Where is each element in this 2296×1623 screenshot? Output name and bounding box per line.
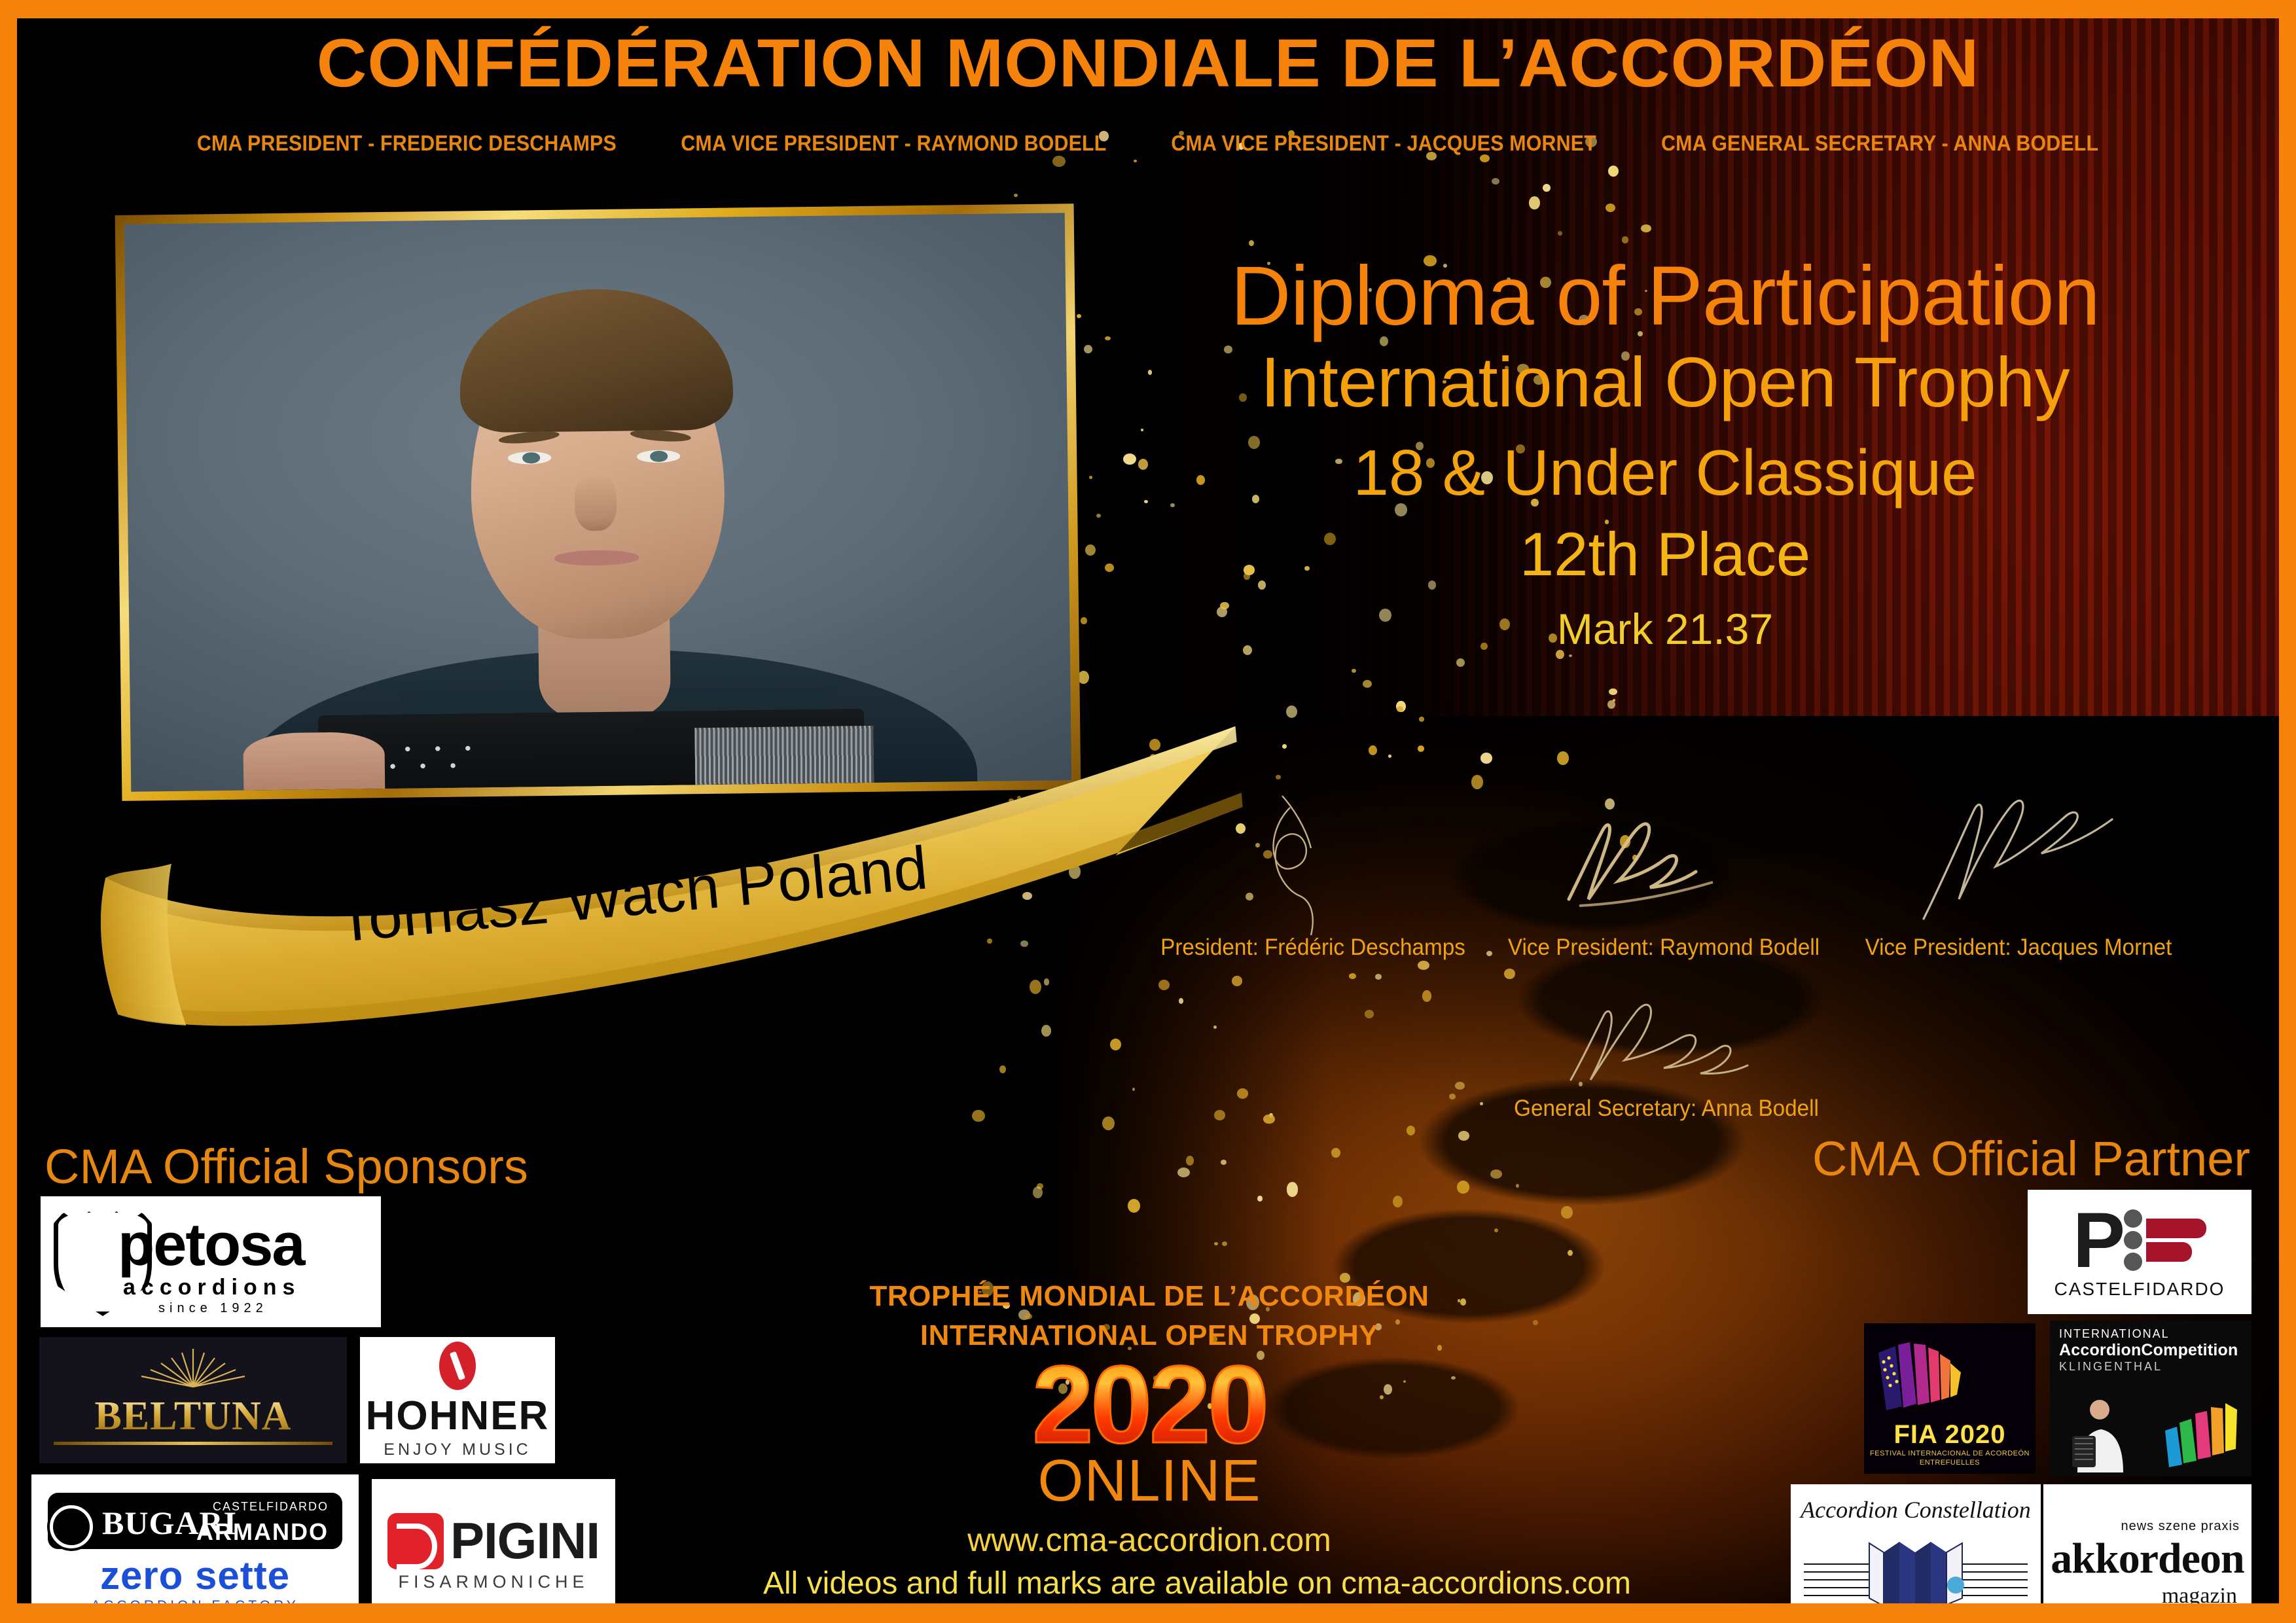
sponsor-logo-bugari-zerosette: BUGARI CASTELFIDARDO ARMANDO zero sette … bbox=[31, 1474, 359, 1603]
klingenthal-color-fan-icon bbox=[2162, 1394, 2245, 1470]
award-text-block: Diploma of Participation International O… bbox=[1090, 253, 2240, 653]
fia-accordion-icon bbox=[1864, 1338, 1969, 1416]
akkordeon-top: news szene praxis bbox=[2043, 1519, 2240, 1534]
officer-president: CMA PRESIDENT - FREDERIC DESCHAMPS bbox=[197, 131, 617, 156]
zerosette-name: zero sette bbox=[31, 1553, 359, 1598]
pigini-mark-icon bbox=[387, 1513, 444, 1569]
klingenthal-player-icon bbox=[2060, 1395, 2134, 1472]
pigini-name: PIGINI bbox=[450, 1511, 600, 1571]
signature-mark-vice-president-2 bbox=[1910, 788, 2126, 938]
signature-caption-president: President: Frédéric Deschamps bbox=[1160, 935, 1465, 961]
officer-vice-president-2: CMA VICE PRESIDENT - JACQUES MORNET bbox=[1171, 131, 1596, 156]
petosa-name: petosa bbox=[118, 1211, 304, 1279]
signature-caption-general-secretary: General Secretary: Anna Bodell bbox=[1514, 1096, 1819, 1122]
beltuna-name: BELTUNA bbox=[39, 1393, 347, 1440]
klingenthal-sub: KLINGENTHAL bbox=[2059, 1360, 2251, 1374]
officers-bar: CMA PRESIDENT - FREDERIC DESCHAMPS CMA V… bbox=[17, 131, 2279, 156]
fia-sub: FESTIVAL INTERNACIONAL DE ACORDEÓN bbox=[1864, 1450, 2036, 1459]
signature-president: President: Frédéric Deschamps bbox=[1143, 791, 1483, 961]
signature-general-secretary: General Secretary: Anna Bodell bbox=[1470, 925, 1863, 1122]
pigini-sub: FISARMONICHE bbox=[372, 1572, 615, 1592]
beltuna-fan-icon bbox=[131, 1347, 255, 1388]
partner-logo-pif: P CASTELFIDARDO bbox=[2028, 1190, 2251, 1314]
participant-photo bbox=[115, 204, 1081, 801]
petosa-since: since 1922 bbox=[158, 1301, 268, 1316]
akkordeon-sub: magazin bbox=[2043, 1584, 2237, 1604]
bugari-armando: ARMANDO bbox=[196, 1518, 329, 1546]
partner-logo-fia2020: FIA 2020 FESTIVAL INTERNACIONAL DE ACORD… bbox=[1864, 1323, 2036, 1474]
signature-mark-president bbox=[1238, 788, 1388, 938]
hohner-sub: ENJOY MUSIC bbox=[360, 1440, 555, 1459]
sponsor-logo-hohner: HOHNER ENJOY MUSIC bbox=[360, 1337, 555, 1463]
petosa-sub: accordions bbox=[123, 1275, 300, 1300]
organisation-title: CONFÉDÉRATION MONDIALE DE L’ACCORDÉON bbox=[17, 25, 2279, 103]
bugari-castelfidardo: CASTELFIDARDO bbox=[213, 1500, 329, 1514]
certificate-stage: CONFÉDÉRATION MONDIALE DE L’ACCORDÉON CM… bbox=[17, 18, 2279, 1603]
partner-logo-klingenthal: INTERNATIONAL AccordionCompetition KLING… bbox=[2050, 1321, 2251, 1476]
signature-row: President: Frédéric Deschamps Vice Presi… bbox=[1143, 791, 2253, 987]
signature-vice-president-2: Vice President: Jacques Mornet bbox=[1835, 791, 2202, 961]
partner-heading: CMA Official Partner bbox=[1812, 1131, 2250, 1186]
akkordeon-name: akkordeon bbox=[2043, 1534, 2251, 1584]
pif-mark-icon: P bbox=[2028, 1204, 2251, 1276]
footer-year: 2020 bbox=[763, 1353, 1535, 1457]
certificate-frame: CONFÉDÉRATION MONDIALE DE L’ACCORDÉON CM… bbox=[0, 0, 2296, 1623]
zerosette-sub: ACCORDION FACTORY bbox=[31, 1598, 359, 1604]
sponsors-heading: CMA Official Sponsors bbox=[45, 1139, 528, 1194]
footer-website[interactable]: www.cma-accordion.com bbox=[763, 1521, 1535, 1559]
footer-online: ONLINE bbox=[763, 1452, 1535, 1510]
fia-sub2: ENTREFUELLES bbox=[1864, 1459, 2036, 1468]
constellation-accordion-icon bbox=[1791, 1524, 2041, 1604]
klingenthal-name: AccordionCompetition bbox=[2059, 1341, 2251, 1360]
place-line: 12th Place bbox=[1090, 520, 2240, 588]
category-line: 18 & Under Classique bbox=[1090, 437, 2240, 509]
partner-logo-accordion-constellation: Accordion Constellation bbox=[1791, 1484, 2041, 1603]
bugari-bar-icon: BUGARI CASTELFIDARDO ARMANDO bbox=[48, 1493, 342, 1549]
diploma-line: Diploma of Participation bbox=[1090, 253, 2240, 340]
photo-image bbox=[124, 213, 1071, 791]
signature-mark-general-secretary bbox=[1555, 988, 1778, 1099]
mark-line: Mark 21.37 bbox=[1090, 605, 2240, 653]
hohner-mark-icon bbox=[439, 1342, 476, 1390]
sponsor-logo-petosa: petosa accordions since 1922 bbox=[41, 1196, 381, 1327]
footer-block: TROPHÉE MONDIAL DE L’ACCORDÉON INTERNATI… bbox=[763, 1280, 1535, 1601]
event-line: International Open Trophy bbox=[1090, 344, 2240, 421]
constellation-name: Accordion Constellation bbox=[1791, 1496, 2041, 1524]
officer-vice-president-1: CMA VICE PRESIDENT - RAYMOND BODELL bbox=[681, 131, 1106, 156]
pif-castelfidardo: CASTELFIDARDO bbox=[2028, 1279, 2251, 1300]
signature-caption-vice-president-2: Vice President: Jacques Mornet bbox=[1865, 935, 2172, 961]
signature-mark-vice-president-1 bbox=[1556, 808, 1772, 938]
sponsor-logo-beltuna: BELTUNA bbox=[39, 1337, 347, 1463]
hohner-name: HOHNER bbox=[360, 1393, 555, 1439]
footer-note: All videos and full marks are available … bbox=[763, 1565, 1535, 1601]
partner-logo-akkordeon-magazin: news szene praxis akkordeon magazin bbox=[2043, 1484, 2251, 1603]
footer-trophy-fr: TROPHÉE MONDIAL DE L’ACCORDÉON bbox=[763, 1280, 1535, 1313]
klingenthal-top: INTERNATIONAL bbox=[2059, 1327, 2251, 1341]
sponsor-logo-pigini: PIGINI FISARMONICHE bbox=[372, 1479, 615, 1603]
fia-name: FIA 2020 bbox=[1864, 1420, 2036, 1450]
officer-general-secretary: CMA GENERAL SECRETARY - ANNA BODELL bbox=[1661, 131, 2098, 156]
